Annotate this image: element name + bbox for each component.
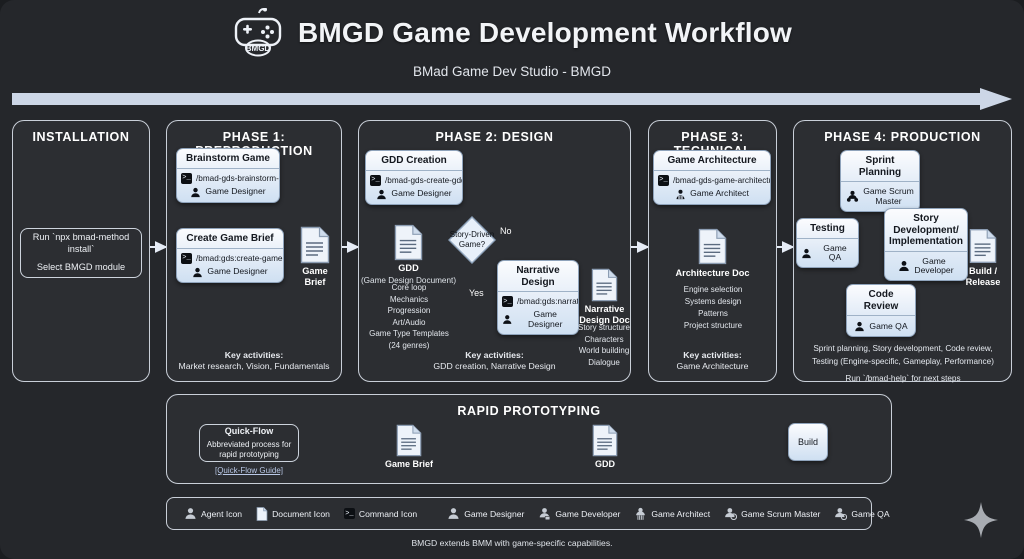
phase4-note-line2: Testing (Engine-specific, Gameplay, Perf… <box>796 356 1010 369</box>
edge-label-no: No <box>500 226 512 236</box>
architecture-details-list: Engine selection Systems design Patterns… <box>654 284 772 332</box>
doc-label: Architecture Doc <box>675 268 749 279</box>
command-row[interactable]: >_ /bmad:gds:narrative <box>502 295 574 308</box>
agent-row: Game Architect <box>658 187 766 200</box>
game-designer-icon <box>376 189 387 200</box>
legend-item-agent-icon: Agent Icon <box>177 507 249 520</box>
agent-name: Game QA <box>869 322 907 332</box>
agent-name: Game Architect <box>690 189 749 199</box>
game-designer-icon <box>447 507 460 520</box>
doc-label-line1: Build / <box>969 266 997 276</box>
workflow-direction-arrow <box>12 88 1012 110</box>
command-text: /bmad:gds:create-game-brief <box>196 254 284 263</box>
gdd-detail: Game Type Templates <box>348 328 470 340</box>
rp-build-label: Build <box>798 437 818 447</box>
legend-label: Agent Icon <box>201 509 242 519</box>
agent-name: Game Designer <box>207 267 267 277</box>
narrative-detail: World building <box>552 345 656 357</box>
narrative-details-list: Story structure Characters World buildin… <box>552 322 656 368</box>
workflow-diagram: BMGD BMGD Game Development Workflow BMad… <box>0 0 1024 559</box>
rp-build-box[interactable]: Build <box>788 423 828 461</box>
card-title: Create Game Brief <box>177 229 283 249</box>
document-icon <box>591 268 618 302</box>
decision-line2: Game? <box>459 240 485 249</box>
gdd-detail: Core loop <box>348 282 470 294</box>
architecture-detail: Patterns <box>654 308 772 320</box>
card-testing[interactable]: Testing Game QA <box>796 218 859 268</box>
architecture-detail: Engine selection <box>654 284 772 296</box>
command-icon: >_ <box>181 173 192 184</box>
card-title: GDD Creation <box>366 151 462 171</box>
page-subtitle: BMad Game Dev Studio - BMGD <box>0 64 1024 79</box>
quick-flow-desc-line2: rapid prototyping <box>219 450 279 459</box>
architecture-detail: Project structure <box>654 320 772 332</box>
phase3-key-activities-title: Key activities: <box>649 350 776 362</box>
phase1-key-activities-text: Market research, Vision, Fundamentals <box>179 361 330 371</box>
game-developer-icon <box>538 507 551 520</box>
panel-title-rapid-prototyping: RAPID PROTOTYPING <box>167 404 891 418</box>
agent-row: Game Designer <box>181 265 279 278</box>
legend-item-document-icon: Document Icon <box>249 507 337 521</box>
game-designer-icon <box>502 314 513 325</box>
legend-item-game-architect: Game Architect <box>627 507 717 520</box>
gamepad-icon: BMGD <box>232 8 284 58</box>
quick-flow-desc-line1: Abbreviated process for <box>207 440 292 449</box>
phase3-key-activities-text: Game Architecture <box>677 361 749 371</box>
agent-name-line2: Master <box>875 196 901 206</box>
install-command: Run `npx bmad-method install` <box>27 232 135 256</box>
narrative-detail: Story structure <box>552 322 656 334</box>
rp-document-gdd: GDD <box>592 424 618 462</box>
legend: Agent Icon Document Icon >_ Command Icon… <box>166 497 872 530</box>
doc-label-line2: Release <box>966 277 1001 287</box>
document-icon <box>394 224 423 261</box>
document-game-brief: Game Brief <box>300 226 330 269</box>
agent-name-line1: Game <box>922 256 945 266</box>
game-scrum-master-icon <box>724 507 737 520</box>
agent-name: Game QA <box>816 244 854 264</box>
agent-row: Game Scrum Master <box>845 185 915 207</box>
agent-row: Game Designer <box>370 187 458 200</box>
phase1-key-activities-title: Key activities: <box>167 350 341 362</box>
command-icon: >_ <box>502 296 513 307</box>
quick-flow-box[interactable]: Quick-Flow Abbreviated process for rapid… <box>199 424 299 462</box>
architecture-detail: Systems design <box>654 296 772 308</box>
phase4-notes: Sprint planning, Story development, Code… <box>796 343 1010 386</box>
doc-label-line1: Narrative <box>585 304 625 314</box>
panel-title-installation: INSTALLATION <box>13 130 149 144</box>
legend-label: Command Icon <box>359 509 417 519</box>
rp-document-game-brief: Game Brief <box>396 424 422 462</box>
decision-line1: Story-Driven <box>450 230 494 239</box>
game-architect-icon <box>675 189 686 200</box>
card-title: Sprint Planning <box>841 151 919 182</box>
card-title: Game Architecture <box>654 151 770 171</box>
gdd-detail: (24 genres) <box>348 340 470 352</box>
legend-label: Document Icon <box>272 509 330 519</box>
legend-item-command-icon: >_ Command Icon <box>337 508 424 519</box>
game-qa-icon <box>834 507 847 520</box>
legend-label: Game Designer <box>464 509 524 519</box>
agent-row: Game QA <box>801 242 854 264</box>
legend-label: Game Scrum Master <box>741 509 820 519</box>
command-text: /bmad-gds-game-architecture <box>673 176 771 185</box>
document-icon <box>969 228 997 264</box>
page-title: BMGD Game Development Workflow <box>298 17 792 49</box>
rp-doc-label: GDD <box>595 459 615 469</box>
phase4-note-line1: Sprint planning, Story development, Code… <box>796 343 1010 356</box>
agent-name: Game Designer <box>391 189 451 199</box>
card-title-line3: Implementation <box>889 236 963 247</box>
command-icon: >_ <box>181 253 192 264</box>
command-icon: >_ <box>658 175 669 186</box>
agent-name-line2: Developer <box>914 265 953 275</box>
command-text: /bmad-gds-create-gdd <box>385 176 463 185</box>
card-gdd-creation[interactable]: GDD Creation >_ /bmad-gds-create-gdd Gam… <box>365 150 463 205</box>
game-designer-icon <box>190 187 201 198</box>
document-build-release: Build / Release <box>969 228 997 269</box>
card-create-game-brief[interactable]: Create Game Brief >_ /bmad:gds:create-ga… <box>176 228 284 283</box>
legend-item-game-qa: Game QA <box>827 507 896 520</box>
doc-label-line1: Game <box>302 266 328 276</box>
narrative-detail: Dialogue <box>552 357 656 369</box>
document-icon <box>300 226 330 264</box>
card-title: Code Review <box>847 285 915 316</box>
rp-doc-label: Game Brief <box>385 459 433 469</box>
card-title: Brainstorm Game <box>177 149 279 169</box>
quick-flow-guide-link[interactable]: [Quick-Flow Guide] <box>215 466 283 475</box>
legend-item-game-scrum-master: Game Scrum Master <box>717 507 827 520</box>
agent-row: Game Designer <box>181 185 275 198</box>
gdd-detail: Art/Audio <box>348 317 470 329</box>
decision-story-driven: Story-Driven Game? <box>448 216 496 264</box>
phase2-key-activities-text: GDD creation, Narrative Design <box>433 361 555 371</box>
panel-title-phase2: PHASE 2: DESIGN <box>359 130 630 144</box>
command-row[interactable]: >_ /bmad-gds-game-architecture <box>658 174 766 187</box>
game-scrum-master-icon <box>846 190 859 203</box>
card-game-architecture[interactable]: Game Architecture >_ /bmad-gds-game-arch… <box>653 150 771 205</box>
agent-row: Game QA <box>851 319 911 332</box>
phase4-note-line3: Run `/bmad-help` for next steps <box>796 373 1010 386</box>
doc-label: GDD <box>398 263 418 274</box>
logo-label: BMGD <box>246 44 271 53</box>
game-developer-icon <box>898 260 910 272</box>
document-architecture: Architecture Doc <box>698 228 727 270</box>
command-row[interactable]: >_ /bmad-gds-brainstorm-game <box>181 172 275 185</box>
legend-label: Game Architect <box>651 509 710 519</box>
game-architect-icon <box>634 507 647 520</box>
doc-label-line2: Brief <box>305 277 326 287</box>
card-story-development[interactable]: Story Development/ Implementation Game D… <box>884 208 968 281</box>
footnote: BMGD extends BMM with game-specific capa… <box>0 538 1024 548</box>
gdd-details-list: Core loop Mechanics Progression Art/Audi… <box>348 282 470 352</box>
document-narrative-design: Narrative Design Doc <box>591 268 618 307</box>
diagram-header: BMGD BMGD Game Development Workflow BMad… <box>0 8 1024 79</box>
command-icon: >_ <box>370 175 381 186</box>
command-icon: >_ <box>344 508 355 519</box>
card-title-line1: Story <box>913 213 939 224</box>
legend-item-game-developer: Game Developer <box>531 507 627 520</box>
gdd-detail: Mechanics <box>348 294 470 306</box>
document-icon <box>256 507 268 521</box>
command-row[interactable]: >_ /bmad:gds:create-game-brief <box>181 252 279 265</box>
card-title: Narrative Design <box>498 261 578 292</box>
agent-icon <box>184 507 197 520</box>
sparkle-icon <box>962 500 1000 545</box>
game-qa-icon <box>854 321 865 332</box>
card-title-line2: Development/ <box>893 225 959 236</box>
installation-instructions-box: Run `npx bmad-method install` Select BMG… <box>20 228 142 278</box>
agent-name-line1: Game Scrum <box>863 186 914 196</box>
legend-item-game-designer: Game Designer <box>440 507 531 520</box>
command-text: /bmad:gds:narrative <box>517 297 579 306</box>
narrative-detail: Characters <box>552 334 656 346</box>
edge-label-yes: Yes <box>469 288 484 298</box>
card-title: Story Development/ Implementation <box>885 209 967 252</box>
phase1-key-activities: Key activities: Market research, Vision,… <box>167 350 341 373</box>
document-icon <box>592 424 618 457</box>
document-icon <box>698 228 727 265</box>
document-icon <box>396 424 422 457</box>
game-qa-icon <box>801 248 812 259</box>
game-designer-icon <box>192 267 203 278</box>
card-sprint-planning[interactable]: Sprint Planning Game Scrum Master <box>840 150 920 212</box>
panel-title-phase4: PHASE 4: PRODUCTION <box>794 130 1011 144</box>
quick-flow-title: Quick-Flow <box>225 426 274 438</box>
gdd-detail: Progression <box>348 305 470 317</box>
card-code-review[interactable]: Code Review Game QA <box>846 284 916 337</box>
legend-label: Game Developer <box>555 509 620 519</box>
card-title: Testing <box>797 219 858 239</box>
legend-label: Game QA <box>851 509 889 519</box>
install-module-step: Select BMGD module <box>37 262 125 274</box>
card-brainstorm-game[interactable]: Brainstorm Game >_ /bmad-gds-brainstorm-… <box>176 148 280 203</box>
phase3-key-activities: Key activities: Game Architecture <box>649 350 776 373</box>
agent-row: Game Developer <box>889 255 963 277</box>
agent-name: Game Designer <box>205 187 265 197</box>
document-gdd: GDD (Game Design Document) <box>394 224 423 266</box>
command-row[interactable]: >_ /bmad-gds-create-gdd <box>370 174 458 187</box>
command-text: /bmad-gds-brainstorm-game <box>196 174 280 183</box>
